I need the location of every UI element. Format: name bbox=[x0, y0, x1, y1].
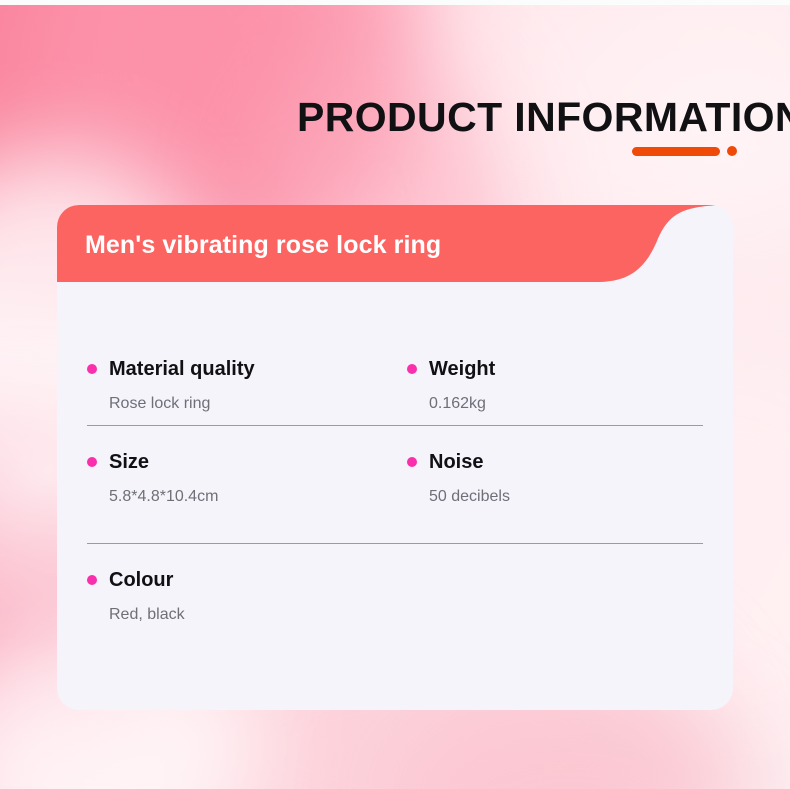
page-title: PRODUCT INFORMATION bbox=[297, 92, 737, 142]
title-accent-rule bbox=[632, 145, 737, 157]
spec-label: Colour bbox=[109, 568, 173, 592]
spec-value: 50 decibels bbox=[429, 487, 703, 507]
spec-label: Noise bbox=[429, 450, 483, 474]
product-information-page: PRODUCT INFORMATION Men's vibrating rose… bbox=[0, 0, 790, 789]
page-title-block: PRODUCT INFORMATION bbox=[297, 92, 737, 142]
spec-item-size: Size 5.8*4.8*10.4cm bbox=[87, 450, 395, 543]
spec-item-weight: Weight 0.162kg bbox=[395, 357, 703, 425]
bullet-dot-icon bbox=[87, 457, 97, 467]
spec-label: Size bbox=[109, 450, 149, 474]
bullet-dot-icon bbox=[407, 457, 417, 467]
spec-label-line: Size bbox=[87, 450, 395, 474]
accent-dot-icon bbox=[727, 146, 737, 156]
spec-label-line: Colour bbox=[87, 568, 395, 592]
spec-label: Material quality bbox=[109, 357, 255, 381]
accent-bar bbox=[632, 147, 720, 156]
spec-row: Material quality Rose lock ring Weight 0… bbox=[57, 310, 733, 425]
spec-item-empty bbox=[395, 568, 703, 661]
product-spec-card: Men's vibrating rose lock ring Material … bbox=[57, 205, 733, 710]
spec-item-material-quality: Material quality Rose lock ring bbox=[87, 357, 395, 425]
spec-value: 0.162kg bbox=[429, 394, 703, 414]
spec-value: 5.8*4.8*10.4cm bbox=[109, 487, 395, 507]
spec-row: Colour Red, black bbox=[57, 543, 733, 661]
card-banner: Men's vibrating rose lock ring bbox=[57, 205, 733, 310]
spec-label-line: Weight bbox=[407, 357, 703, 381]
spec-list: Material quality Rose lock ring Weight 0… bbox=[57, 310, 733, 710]
spec-label-line: Material quality bbox=[87, 357, 395, 381]
spec-item-noise: Noise 50 decibels bbox=[395, 450, 703, 543]
bullet-dot-icon bbox=[407, 364, 417, 374]
spec-value: Rose lock ring bbox=[109, 394, 395, 414]
bullet-dot-icon bbox=[87, 364, 97, 374]
spec-label: Weight bbox=[429, 357, 495, 381]
card-banner-title: Men's vibrating rose lock ring bbox=[85, 231, 441, 260]
spec-value: Red, black bbox=[109, 605, 395, 625]
background-top-edge bbox=[0, 0, 790, 5]
spec-row: Size 5.8*4.8*10.4cm Noise 50 decibels bbox=[57, 425, 733, 543]
bullet-dot-icon bbox=[87, 575, 97, 585]
spec-item-colour: Colour Red, black bbox=[87, 568, 395, 661]
spec-label-line: Noise bbox=[407, 450, 703, 474]
